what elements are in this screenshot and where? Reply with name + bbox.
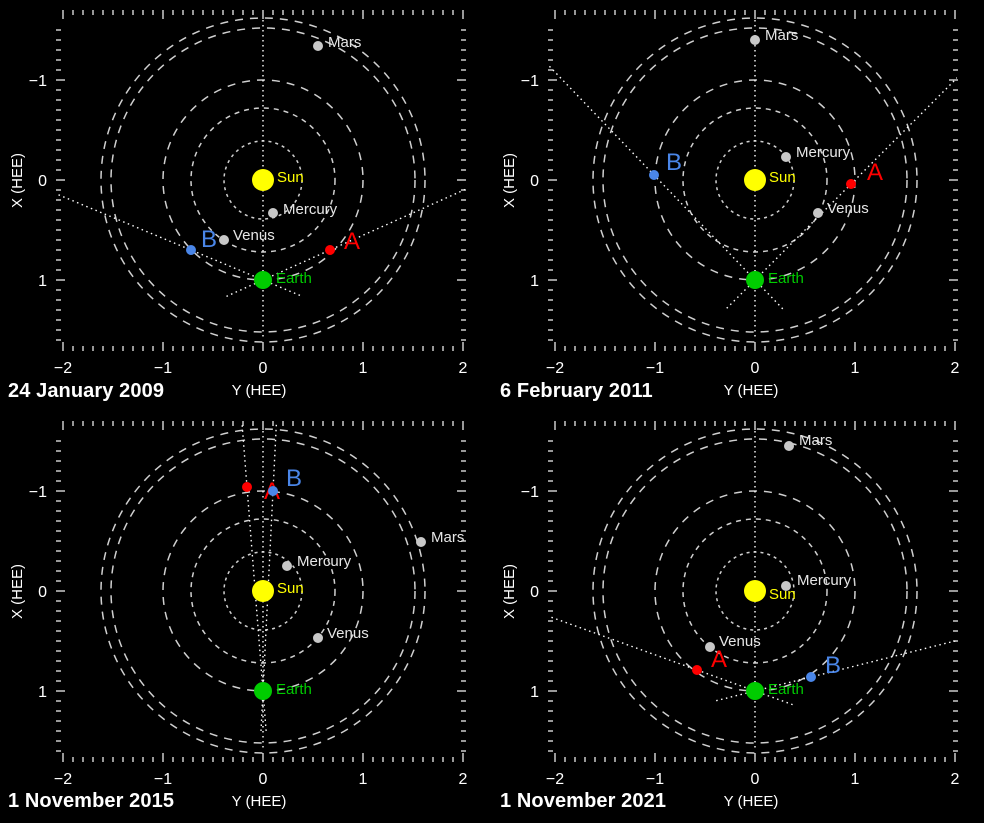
body-label-b: B [201, 226, 217, 253]
y-axis-label: X (HEE) [501, 564, 518, 619]
body-marker-mercury [781, 581, 791, 591]
body-label-mars: Mars [765, 27, 798, 44]
body-marker-b [649, 170, 659, 180]
sight-line-a [727, 0, 984, 308]
body-label-earth: Earth [276, 681, 312, 698]
body-label-earth: Earth [276, 270, 312, 287]
body-label-mars: Mars [328, 34, 361, 51]
x-tick-label: 0 [259, 360, 268, 377]
body-label-earth: Earth [768, 681, 804, 698]
body-marker-b [186, 245, 196, 255]
sight-line-b [492, 0, 783, 309]
body-label-venus: Venus [327, 625, 369, 642]
x-axis-label: Y (HEE) [232, 382, 287, 399]
y-tick-label: 1 [38, 273, 47, 290]
body-marker-venus [813, 208, 823, 218]
x-tick-label: −2 [54, 360, 72, 377]
y-tick-label: 0 [38, 584, 47, 601]
body-label-earth: Earth [768, 270, 804, 287]
x-tick-label: −2 [546, 771, 564, 788]
x-axis-label: Y (HEE) [724, 382, 779, 399]
body-marker-sun [252, 580, 274, 602]
x-tick-label: 2 [951, 360, 960, 377]
sight-line-a [169, 411, 266, 731]
body-marker-earth [746, 682, 764, 700]
x-tick-label: 0 [751, 360, 760, 377]
body-marker-sun [744, 580, 766, 602]
body-label-b: B [286, 465, 302, 492]
sight-line-b [716, 411, 984, 701]
y-tick-label: 1 [530, 273, 539, 290]
body-marker-mercury [268, 208, 278, 218]
y-axis-label: X (HEE) [9, 564, 26, 619]
body-label-mercury: Mercury [297, 553, 352, 570]
x-tick-label: −2 [54, 771, 72, 788]
body-label-a: A [344, 228, 360, 255]
body-marker-b [806, 672, 816, 682]
y-tick-label: 0 [530, 584, 539, 601]
y-tick-label: −1 [521, 484, 539, 501]
orbit-panel-0: −2−1012−101Y (HEE)X (HEE)SunMercuryVenus… [0, 0, 492, 411]
y-tick-label: 1 [530, 684, 539, 701]
body-marker-a [846, 179, 856, 189]
x-tick-label: 0 [751, 771, 760, 788]
body-marker-mars [784, 441, 794, 451]
y-axis-label: X (HEE) [501, 153, 518, 208]
x-tick-label: 2 [459, 360, 468, 377]
orbit-panel-2: −2−1012−101Y (HEE)X (HEE)SunMercuryVenus… [0, 411, 492, 822]
body-marker-a [242, 482, 252, 492]
body-label-sun: Sun [277, 169, 304, 186]
sight-line-a [492, 411, 793, 705]
x-tick-label: −1 [646, 771, 664, 788]
body-marker-mercury [282, 561, 292, 571]
body-label-venus: Venus [233, 227, 275, 244]
body-label-a: A [711, 646, 727, 673]
body-label-mercury: Mercury [283, 201, 338, 218]
body-label-sun: Sun [769, 169, 796, 186]
body-marker-mercury [781, 152, 791, 162]
orbit-panel-1: −2−1012−101Y (HEE)X (HEE)SunMercuryVenus… [492, 0, 984, 411]
x-axis-label: Y (HEE) [232, 793, 287, 810]
body-marker-earth [254, 682, 272, 700]
x-tick-label: 2 [951, 771, 960, 788]
body-marker-mars [750, 35, 760, 45]
body-marker-sun [744, 169, 766, 191]
x-tick-label: −1 [154, 771, 172, 788]
body-marker-earth [254, 271, 272, 289]
body-marker-sun [252, 169, 274, 191]
body-label-b: B [666, 149, 682, 176]
y-tick-label: 0 [38, 173, 47, 190]
body-label-mars: Mars [799, 432, 832, 449]
x-tick-label: 0 [259, 771, 268, 788]
x-axis-label: Y (HEE) [724, 793, 779, 810]
x-tick-label: −1 [154, 360, 172, 377]
body-label-venus: Venus [827, 200, 869, 217]
panel-grid: −2−1012−101Y (HEE)X (HEE)SunMercuryVenus… [0, 0, 984, 823]
body-marker-venus [219, 235, 229, 245]
x-tick-label: 1 [359, 360, 368, 377]
x-tick-label: 1 [359, 771, 368, 788]
body-marker-a [692, 665, 702, 675]
body-label-b: B [825, 652, 841, 679]
body-marker-a [325, 245, 335, 255]
y-tick-label: −1 [29, 73, 47, 90]
y-tick-label: −1 [521, 73, 539, 90]
body-label-a: A [867, 159, 883, 186]
y-axis-label: X (HEE) [9, 153, 26, 208]
x-tick-label: 1 [851, 771, 860, 788]
body-label-mercury: Mercury [796, 144, 851, 161]
x-tick-label: 1 [851, 360, 860, 377]
y-tick-label: 1 [38, 684, 47, 701]
body-marker-mars [313, 41, 323, 51]
body-label-sun: Sun [277, 580, 304, 597]
orbit-panel-3: −2−1012−101Y (HEE)X (HEE)SunMercuryVenus… [492, 411, 984, 822]
body-marker-venus [313, 633, 323, 643]
body-marker-earth [746, 271, 764, 289]
y-tick-label: 0 [530, 173, 539, 190]
y-tick-label: −1 [29, 484, 47, 501]
x-tick-label: 2 [459, 771, 468, 788]
body-marker-mars [416, 537, 426, 547]
body-label-mars: Mars [431, 529, 464, 546]
body-label-mercury: Mercury [797, 572, 852, 589]
x-tick-label: −2 [546, 360, 564, 377]
x-tick-label: −1 [646, 360, 664, 377]
body-marker-b [268, 486, 278, 496]
